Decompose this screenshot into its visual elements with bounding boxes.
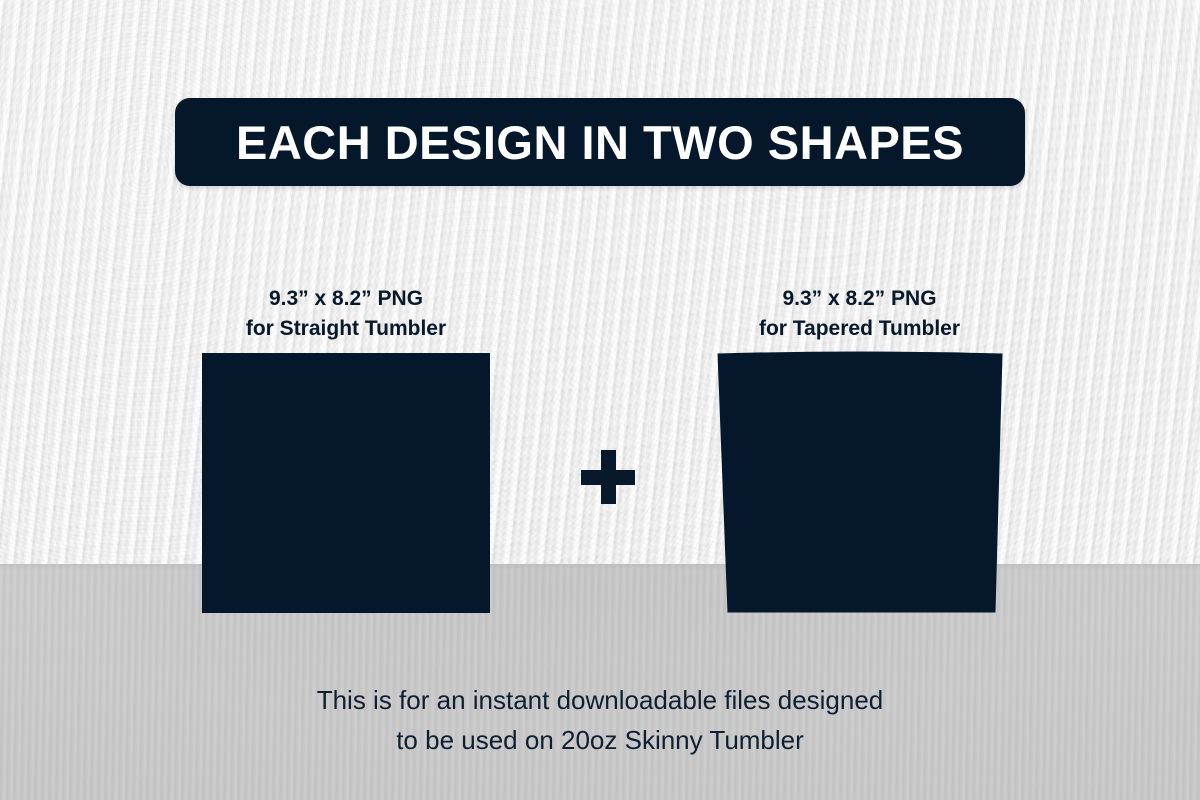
- tapered-tumbler-shape: [710, 345, 1010, 620]
- plus-icon-vertical-bar: [601, 450, 616, 504]
- straight-tumbler-size-text: 9.3” x 8.2” PNG: [202, 284, 490, 314]
- tapered-tumbler-label: 9.3” x 8.2” PNG for Tapered Tumbler: [717, 284, 1002, 344]
- straight-tumbler-use-text: for Straight Tumbler: [202, 314, 490, 344]
- footer-caption: This is for an instant downloadable file…: [0, 681, 1200, 760]
- plus-icon: [581, 450, 635, 504]
- straight-tumbler-shape: [202, 353, 490, 613]
- promo-graphic: EACH DESIGN IN TWO SHAPES 9.3” x 8.2” PN…: [0, 0, 1200, 800]
- footer-caption-line-2: to be used on 20oz Skinny Tumbler: [0, 721, 1200, 761]
- footer-caption-line-1: This is for an instant downloadable file…: [0, 681, 1200, 721]
- title-banner: EACH DESIGN IN TWO SHAPES: [175, 98, 1025, 186]
- tapered-tumbler-path: [718, 352, 1003, 613]
- page-title: EACH DESIGN IN TWO SHAPES: [236, 119, 964, 166]
- tapered-tumbler-use-text: for Tapered Tumbler: [717, 314, 1002, 344]
- straight-tumbler-label: 9.3” x 8.2” PNG for Straight Tumbler: [202, 284, 490, 344]
- tapered-tumbler-size-text: 9.3” x 8.2” PNG: [717, 284, 1002, 314]
